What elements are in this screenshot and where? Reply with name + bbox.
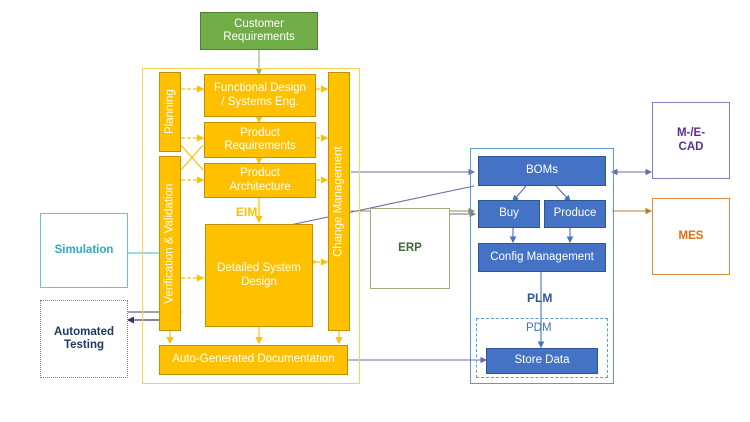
buy-box[interactable]: Buy (478, 200, 540, 228)
automated-testing-label-1: Automated (54, 326, 114, 339)
pdm-container-label: PDM (526, 322, 552, 334)
detailed-system-design-box[interactable]: Detailed System Design (205, 224, 313, 327)
buy-label: Buy (499, 207, 519, 220)
plm-container-label: PLM (527, 291, 552, 305)
boms-label: BOMs (526, 164, 558, 177)
customer-requirements-box[interactable]: Customer Requirements (200, 12, 318, 50)
erp-label: ERP (398, 242, 422, 255)
diagram-canvas: EIM PLM PDM Customer Requirements Planni… (0, 0, 750, 422)
eim-container-label: EIM (236, 205, 257, 219)
planning-label: Planning (163, 90, 176, 135)
mecad-label-1: M-/E- (677, 127, 705, 140)
verification-validation-bar[interactable]: Verification & Validation (159, 156, 181, 331)
planning-bar[interactable]: Planning (159, 72, 181, 152)
detailed-system-design-label-1: Detailed System (217, 262, 301, 275)
boms-box[interactable]: BOMs (478, 156, 606, 186)
product-architecture-label-2: Architecture (229, 181, 290, 194)
product-requirements-label-2: Requirements (224, 140, 296, 153)
automated-testing-box[interactable]: Automated Testing (40, 300, 128, 378)
erp-box[interactable]: ERP (370, 208, 450, 289)
produce-box[interactable]: Produce (544, 200, 606, 228)
simulation-box[interactable]: Simulation (40, 213, 128, 288)
automated-testing-label-2: Testing (64, 339, 104, 352)
functional-design-label-2: / Systems Eng. (221, 96, 298, 109)
mes-label: MES (679, 230, 704, 243)
auto-generated-documentation-label: Auto-Generated Documentation (172, 353, 334, 366)
product-requirements-label-1: Product (240, 127, 280, 140)
auto-generated-documentation-box[interactable]: Auto-Generated Documentation (159, 345, 348, 375)
detailed-system-design-label-2: Design (241, 276, 277, 289)
change-management-label: Change Management (332, 146, 345, 257)
config-management-label: Config Management (490, 251, 594, 264)
mecad-box[interactable]: M-/E- CAD (652, 102, 730, 179)
simulation-label: Simulation (55, 244, 114, 257)
product-requirements-box[interactable]: Product Requirements (204, 122, 316, 158)
produce-label: Produce (554, 207, 597, 220)
change-management-bar[interactable]: Change Management (328, 72, 350, 331)
store-data-label: Store Data (515, 354, 570, 367)
product-architecture-box[interactable]: Product Architecture (204, 163, 316, 198)
customer-requirements-label-2: Requirements (223, 31, 295, 44)
store-data-box[interactable]: Store Data (486, 348, 598, 374)
functional-design-label-1: Functional Design (214, 82, 306, 95)
mes-box[interactable]: MES (652, 198, 730, 275)
customer-requirements-label-1: Customer (234, 18, 284, 31)
mecad-label-2: CAD (679, 141, 704, 154)
product-architecture-label-1: Product (240, 167, 280, 180)
verification-validation-label: Verification & Validation (163, 184, 176, 304)
functional-design-box[interactable]: Functional Design / Systems Eng. (204, 74, 316, 117)
config-management-box[interactable]: Config Management (478, 243, 606, 272)
